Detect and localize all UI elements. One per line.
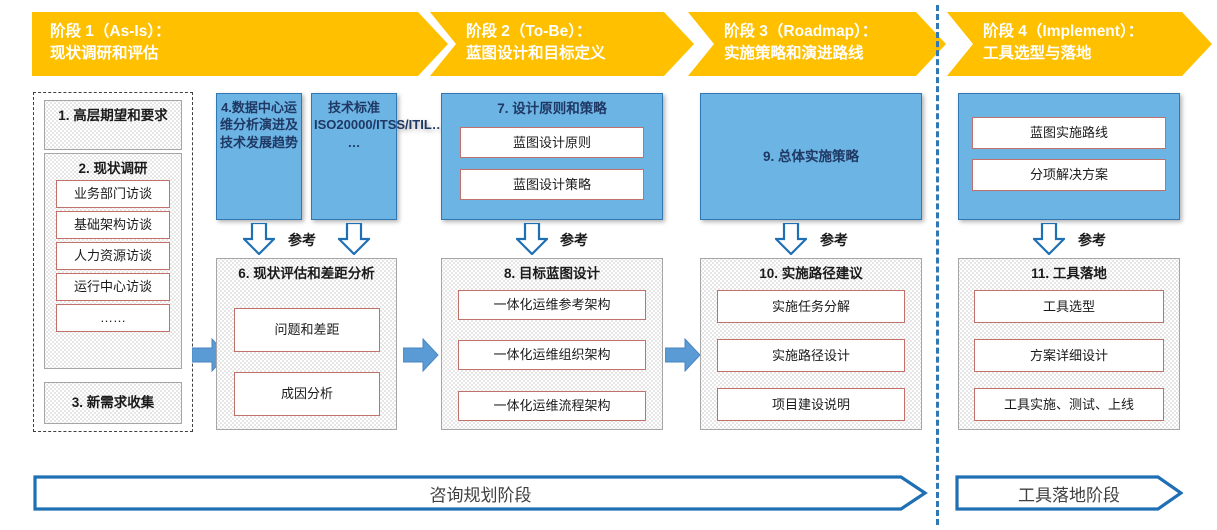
col1-item-3[interactable]: 人力资源访谈 <box>56 242 170 270</box>
bottom-banner-right[interactable]: 工具落地阶段 <box>955 474 1183 512</box>
phase-header-1[interactable]: 阶段 1（As-Is）： 现状调研和评估 <box>32 12 448 76</box>
phase-header-3-line1: 阶段 3（Roadmap）： <box>724 23 877 40</box>
phase-header-3-line2: 实施策略和演进路线 <box>724 43 936 65</box>
col4-item-2[interactable]: 实施路径设计 <box>717 339 905 372</box>
down-arrow-icon-2a <box>243 223 275 255</box>
col5-ref-label: 参考 <box>1078 230 1106 250</box>
col2-blue-right[interactable]: 技术标准ISO20000/ITSS/ITIL… … <box>311 93 397 220</box>
col1-box-2-title: 2. 现状调研 <box>45 154 181 178</box>
col4-box-title: 10. 实施路径建议 <box>701 259 921 283</box>
col3-item-3[interactable]: 一体化运维流程架构 <box>458 391 646 421</box>
bottom-banner-left-label: 咨询规划阶段 <box>430 481 532 506</box>
down-arrow-icon-3 <box>516 223 548 255</box>
col5-blue[interactable] <box>958 93 1180 220</box>
col3-blue-item-1[interactable]: 蓝图设计原则 <box>460 127 644 158</box>
right-arrow-icon-3 <box>665 338 701 372</box>
col4-item-1[interactable]: 实施任务分解 <box>717 290 905 323</box>
col1-box-3-title: 3. 新需求收集 <box>45 383 181 412</box>
col3-box-title: 8. 目标蓝图设计 <box>442 259 662 283</box>
col1-box-1-title: 1. 高层期望和要求 <box>45 101 181 125</box>
col3-item-2[interactable]: 一体化运维组织架构 <box>458 340 646 370</box>
col4-ref-label: 参考 <box>820 230 848 250</box>
col5-box-title: 11. 工具落地 <box>959 259 1179 283</box>
col1-box-3[interactable]: 3. 新需求收集 <box>44 382 182 424</box>
col5-blue-item-1[interactable]: 蓝图实施路线 <box>972 117 1166 149</box>
phase-header-2-line2: 蓝图设计和目标定义 <box>466 43 684 65</box>
col1-item-1[interactable]: 业务部门访谈 <box>56 180 170 208</box>
col3-blue-item-2[interactable]: 蓝图设计策略 <box>460 169 644 200</box>
col4-blue-title: 9. 总体实施策略 <box>701 94 921 166</box>
col5-item-1[interactable]: 工具选型 <box>974 290 1164 323</box>
bottom-banner-left[interactable]: 咨询规划阶段 <box>33 474 928 512</box>
bottom-banner-right-label: 工具落地阶段 <box>1018 481 1120 506</box>
phase-header-1-line1: 阶段 1（As-Is）： <box>50 23 171 40</box>
phase-header-2[interactable]: 阶段 2（To-Be）： 蓝图设计和目标定义 <box>430 12 694 76</box>
col2-blue-left[interactable]: 4.数据中心运维分析演进及技术发展趋势 <box>216 93 302 220</box>
col5-item-3[interactable]: 工具实施、测试、上线 <box>974 388 1164 421</box>
col3-blue-title: 7. 设计原则和策略 <box>442 94 662 118</box>
phase-header-3[interactable]: 阶段 3（Roadmap）： 实施策略和演进路线 <box>688 12 946 76</box>
phase-header-2-line1: 阶段 2（To-Be）： <box>466 23 591 40</box>
col2-blue-left-title: 4.数据中心运维分析演进及技术发展趋势 <box>217 94 301 151</box>
col4-item-3[interactable]: 项目建设说明 <box>717 388 905 421</box>
col2-ref-label: 参考 <box>288 230 316 250</box>
phase-header-4-line1: 阶段 4（Implement）： <box>983 23 1143 40</box>
right-arrow-icon-2 <box>403 338 439 372</box>
phase-header-4[interactable]: 阶段 4（Implement）： 工具选型与落地 <box>947 12 1212 76</box>
col2-item-1[interactable]: 问题和差距 <box>234 308 380 352</box>
col1-item-5[interactable]: …… <box>56 304 170 332</box>
col1-box-1[interactable]: 1. 高层期望和要求 <box>44 100 182 150</box>
col3-ref-label: 参考 <box>560 230 588 250</box>
col2-item-2[interactable]: 成因分析 <box>234 372 380 416</box>
col2-box-title: 6. 现状评估和差距分析 <box>217 259 396 283</box>
col5-item-2[interactable]: 方案详细设计 <box>974 339 1164 372</box>
phase-divider <box>936 5 939 525</box>
col3-item-1[interactable]: 一体化运维参考架构 <box>458 290 646 320</box>
col1-item-2[interactable]: 基础架构访谈 <box>56 211 170 239</box>
col4-blue[interactable]: 9. 总体实施策略 <box>700 93 922 220</box>
phase-header-4-line2: 工具选型与落地 <box>983 43 1202 65</box>
down-arrow-icon-5 <box>1033 223 1065 255</box>
col5-blue-item-2[interactable]: 分项解决方案 <box>972 159 1166 191</box>
col2-blue-right-title: 技术标准ISO20000/ITSS/ITIL… … <box>312 94 396 151</box>
down-arrow-icon-2b <box>338 223 370 255</box>
col1-item-4[interactable]: 运行中心访谈 <box>56 273 170 301</box>
phase-header-1-line2: 现状调研和评估 <box>50 43 438 65</box>
down-arrow-icon-4 <box>775 223 807 255</box>
